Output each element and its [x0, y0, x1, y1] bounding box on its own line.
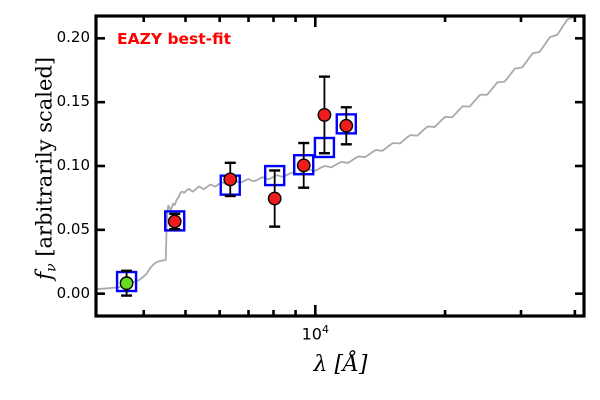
- photometry-point: [318, 109, 330, 121]
- photometry-point: [340, 120, 352, 132]
- axes-frame-group: [96, 16, 584, 316]
- photometry-point: [268, 192, 280, 204]
- photometry-point: [120, 277, 132, 289]
- axes-frame: [96, 16, 584, 316]
- photometry-point: [224, 173, 236, 185]
- plot-area-svg: [0, 0, 600, 400]
- photometry-point: [169, 215, 181, 227]
- photometry-point: [298, 159, 310, 171]
- best-fit-template-line: [96, 16, 581, 289]
- spectrum-line-group: [96, 16, 581, 289]
- figure-canvas: fν [arbitrarily scaled] λ [Å] 0.000.050.…: [0, 0, 600, 400]
